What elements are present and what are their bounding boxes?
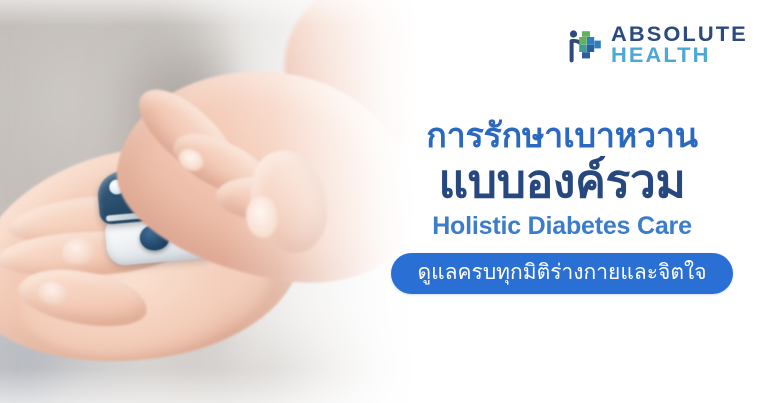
tagline-badge: ดูแลครบทุกมิติร่างกายและจิตใจ	[391, 253, 732, 294]
brand-name-secondary: HEALTH	[611, 46, 748, 66]
promo-banner: ABSOLUTE HEALTH การรักษาเบาหวาน แบบองค์ร…	[0, 0, 768, 403]
hero-photo-content	[0, 0, 430, 403]
brand-logo-wordmark: ABSOLUTE HEALTH	[611, 25, 743, 66]
headline-line-2: แบบองค์รวม	[378, 157, 746, 207]
hero-photo	[0, 0, 430, 403]
brand-logo[interactable]: ABSOLUTE HEALTH	[566, 25, 743, 66]
hero-copy: การรักษาเบาหวาน แบบองค์รวม Holistic Diab…	[378, 118, 746, 294]
subheadline: Holistic Diabetes Care	[378, 212, 746, 241]
headline-line-1: การรักษาเบาหวาน	[378, 118, 746, 155]
brand-name-primary: ABSOLUTE	[611, 25, 748, 45]
person-medical-cross-icon	[566, 26, 606, 66]
